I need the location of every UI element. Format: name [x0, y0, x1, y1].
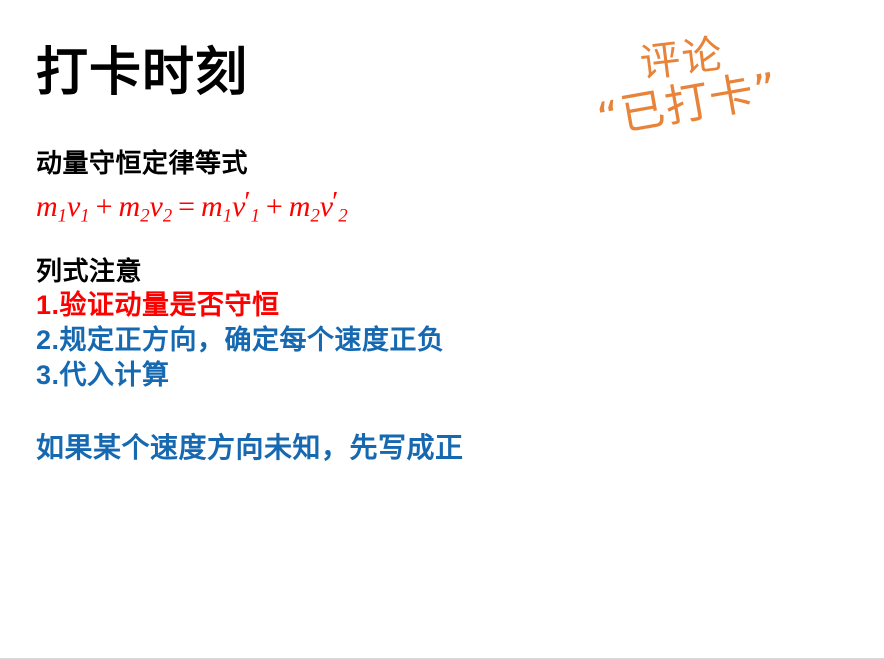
formula-v1: v — [67, 190, 80, 223]
note-line: 如果某个速度方向未知，先写成正 — [36, 429, 676, 467]
step-3-label: 代入计算 — [60, 360, 170, 390]
formula-m1b-sub: 1 — [223, 205, 232, 226]
step-2-number: 2. — [36, 325, 60, 355]
steps-heading: 列式注意 — [36, 254, 676, 288]
spacer-after-formula — [36, 228, 676, 254]
formula-m1-sub: 1 — [58, 205, 67, 226]
step-3-number: 3. — [36, 360, 60, 390]
comment-stamp: 评论 “已打卡” — [555, 21, 815, 145]
formula-v1-prime-sub: 1 — [251, 205, 260, 226]
formula-v2: v — [149, 190, 162, 223]
step-1-label: 验证动量是否守恒 — [60, 290, 280, 320]
formula-plus-2: + — [260, 190, 289, 223]
formula-equals: = — [172, 190, 201, 223]
formula-m2b-sub: 2 — [310, 205, 319, 226]
slide-canvas: 打卡时刻 评论 “已打卡” 动量守恒定律等式 m1v1+m2v2=m1v′1+m… — [0, 0, 884, 659]
formula-m2b: m — [289, 190, 311, 223]
formula-v2-sub: 2 — [163, 205, 172, 226]
equation-heading: 动量守恒定律等式 — [36, 146, 676, 180]
step-item-1: 1.验证动量是否守恒 — [36, 288, 676, 323]
step-2-label: 规定正方向，确定每个速度正负 — [60, 325, 445, 355]
formula-m1: m — [36, 190, 58, 223]
formula-v2-prime-sub: 2 — [338, 205, 347, 226]
formula-plus-1: + — [90, 190, 119, 223]
content-body: 动量守恒定律等式 m1v1+m2v2=m1v′1+m2v′2 列式注意 1.验证… — [36, 146, 676, 467]
formula-m1b: m — [201, 190, 223, 223]
spacer-before-note — [36, 393, 676, 429]
formula-m2: m — [119, 190, 141, 223]
page-title: 打卡时刻 — [36, 42, 248, 104]
step-item-2: 2.规定正方向，确定每个速度正负 — [36, 323, 676, 358]
step-1-number: 1. — [36, 290, 60, 320]
step-item-3: 3.代入计算 — [36, 358, 676, 393]
momentum-conservation-formula: m1v1+m2v2=m1v′1+m2v′2 — [36, 182, 676, 228]
formula-v1-sub: 1 — [80, 205, 89, 226]
